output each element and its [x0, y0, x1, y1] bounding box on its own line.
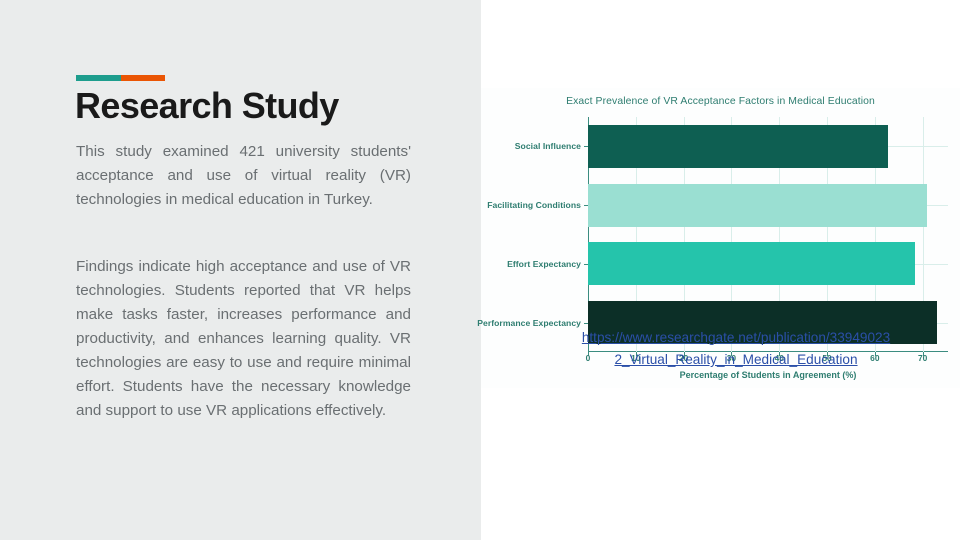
- y-axis-tick-label: Facilitating Conditions: [487, 200, 581, 210]
- bar-social-influence: [588, 125, 888, 168]
- y-axis-tick-mark: [584, 146, 588, 147]
- y-axis-tick-label: Effort Expectancy: [507, 259, 581, 269]
- bar-facilitating-conditions: [588, 184, 927, 227]
- body-paragraph-1: This study examined 421 university stude…: [76, 140, 411, 212]
- bar-effort-expectancy: [588, 242, 915, 285]
- chart-title: Exact Prevalence of VR Acceptance Factor…: [481, 96, 960, 107]
- source-url-link[interactable]: https://www.researchgate.net/publication…: [536, 327, 936, 371]
- page-title: Research Study: [75, 85, 435, 126]
- y-axis-tick-mark: [584, 323, 588, 324]
- accent-bar-teal: [76, 75, 121, 81]
- accent-bar-group: [76, 75, 165, 81]
- bar-row: Effort Expectancy: [588, 242, 948, 285]
- bar-row: Facilitating Conditions: [588, 184, 948, 227]
- source-url-line-1: https://www.researchgate.net/publication…: [582, 330, 890, 345]
- x-axis-label: Percentage of Students in Agreement (%): [588, 370, 948, 380]
- chart-plot-area: Performance ExpectancyEffort ExpectancyF…: [588, 117, 948, 352]
- y-axis-tick-mark: [584, 264, 588, 265]
- slide-root: Research Study This study examined 421 u…: [0, 0, 960, 540]
- y-axis-tick-mark: [584, 205, 588, 206]
- body-paragraph-2: Findings indicate high acceptance and us…: [76, 255, 411, 423]
- y-axis-tick-label: Social Influence: [515, 141, 581, 151]
- right-chart-panel: Exact Prevalence of VR Acceptance Factor…: [481, 0, 960, 540]
- source-url-line-2: 2_Virtual_Reality_in_Medical_Education: [614, 352, 857, 367]
- left-text-panel: Research Study This study examined 421 u…: [0, 0, 481, 540]
- bar-row: Social Influence: [588, 125, 948, 168]
- accent-bar-orange: [121, 75, 165, 81]
